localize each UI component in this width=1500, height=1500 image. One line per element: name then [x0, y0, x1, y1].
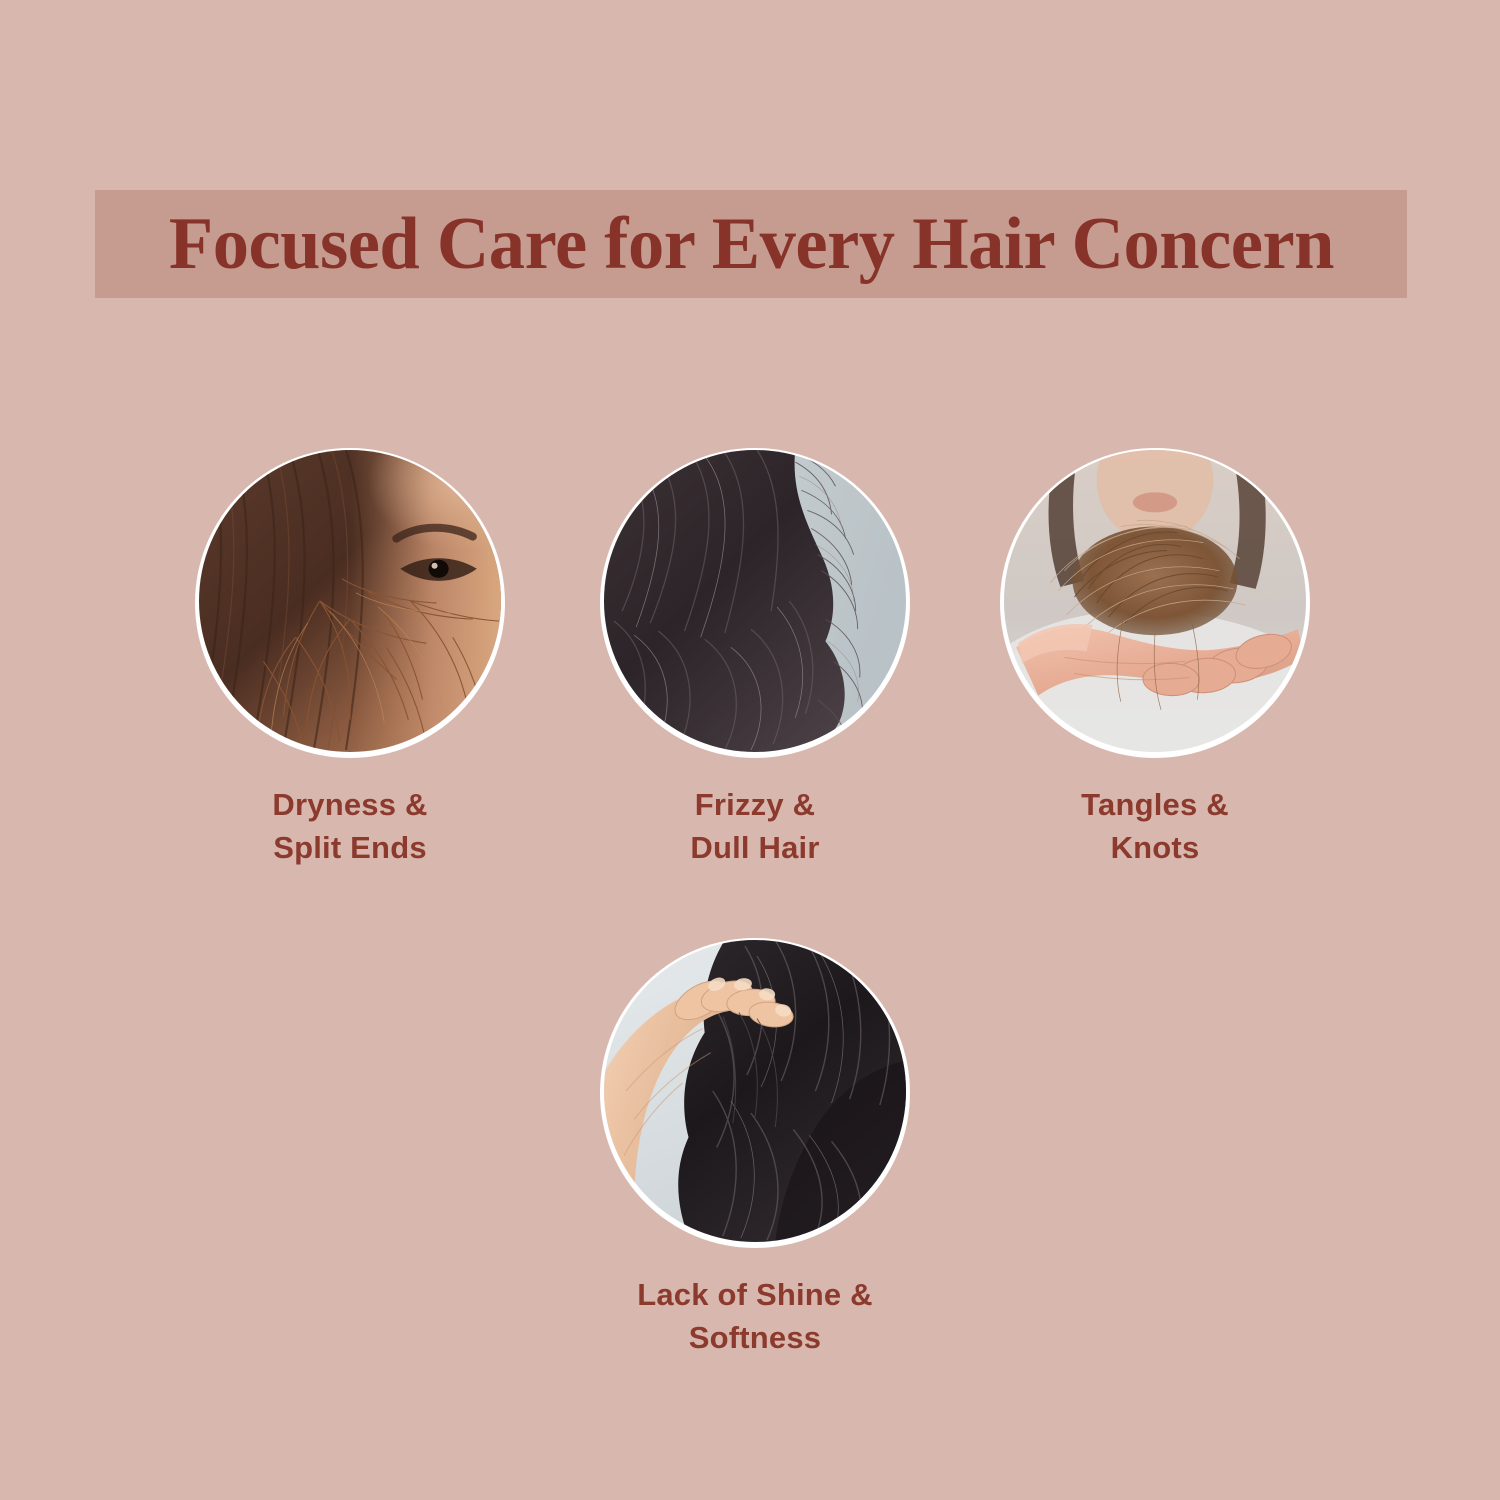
concern-caption: Frizzy & Dull Hair [545, 784, 965, 870]
concern-caption: Tangles & Knots [945, 784, 1365, 870]
concern-caption-line-2: Split Ends [140, 827, 560, 870]
concern-caption: Lack of Shine & Softness [545, 1274, 965, 1360]
concern-caption-line-2: Knots [945, 827, 1365, 870]
concern-caption-line-1: Lack of Shine & [545, 1274, 965, 1317]
tangles-knots-photo [1004, 450, 1306, 752]
concern-caption-line-2: Softness [545, 1317, 965, 1360]
concern-image-ring [195, 448, 505, 758]
lack-of-shine-photo [604, 940, 906, 1242]
dry-split-ends-photo [199, 450, 501, 752]
concern-caption-line-2: Dull Hair [545, 827, 965, 870]
concern-caption-line-1: Dryness & [140, 784, 560, 827]
concern-caption: Dryness & Split Ends [140, 784, 560, 870]
frizzy-dull-hair-photo [604, 450, 906, 752]
concern-item-dryness-split-ends[interactable]: Dryness & Split Ends [140, 448, 560, 870]
concern-item-lack-of-shine-softness[interactable]: Lack of Shine & Softness [545, 938, 965, 1360]
concern-item-tangles-knots[interactable]: Tangles & Knots [945, 448, 1365, 870]
concern-item-frizzy-dull-hair[interactable]: Frizzy & Dull Hair [545, 448, 965, 870]
hair-concern-grid: Dryness & Split Ends [0, 0, 1500, 1500]
concern-caption-line-1: Tangles & [945, 784, 1365, 827]
concern-image-ring [1000, 448, 1310, 758]
concern-image-ring [600, 448, 910, 758]
concern-caption-line-1: Frizzy & [545, 784, 965, 827]
concern-image-ring [600, 938, 910, 1248]
